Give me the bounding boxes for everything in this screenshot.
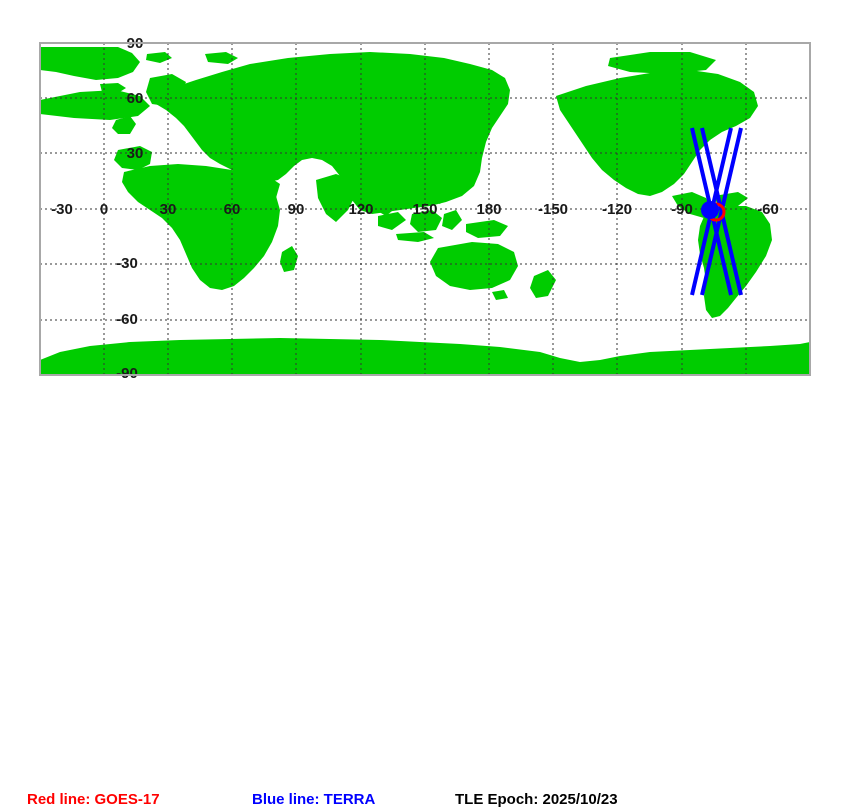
terra-marker	[701, 201, 719, 219]
lon-tick--90: -90	[671, 201, 693, 218]
lon-tick-30: 30	[160, 201, 177, 218]
satellite-ground-track-map: -30 0 30 60 90 120 150 180 -150 -120 -90…	[0, 0, 850, 425]
map-canvas: -30 0 30 60 90 120 150 180 -150 -120 -90…	[0, 0, 850, 388]
legend-terra: Blue line: TERRA	[252, 790, 375, 810]
lon-tick--30: -30	[51, 201, 73, 218]
lon-tick--150: -150	[538, 201, 568, 218]
lat-tick--60: -60	[116, 311, 138, 328]
lon-tick-180: 180	[476, 201, 501, 218]
lat-tick-60: 60	[127, 90, 144, 107]
legend-goes17: Red line: GOES-17	[27, 790, 160, 810]
lat-tick--90: -90	[116, 365, 138, 382]
lon-tick-150: 150	[412, 201, 437, 218]
lon-tick--60: -60	[757, 201, 779, 218]
lon-tick-120: 120	[348, 201, 373, 218]
legend-tle-epoch: TLE Epoch: 2025/10/23	[455, 790, 618, 810]
lon-tick--120: -120	[602, 201, 632, 218]
map-legend: Red line: GOES-17 Blue line: TERRA TLE E…	[0, 392, 850, 425]
lon-tick-0: 0	[100, 201, 108, 218]
lat-tick--30: -30	[116, 255, 138, 272]
lon-tick-60: 60	[224, 201, 241, 218]
lon-tick-90: 90	[288, 201, 305, 218]
world-map-svg: -30 0 30 60 90 120 150 180 -150 -120 -90…	[0, 0, 850, 388]
lat-tick-30: 30	[127, 145, 144, 162]
